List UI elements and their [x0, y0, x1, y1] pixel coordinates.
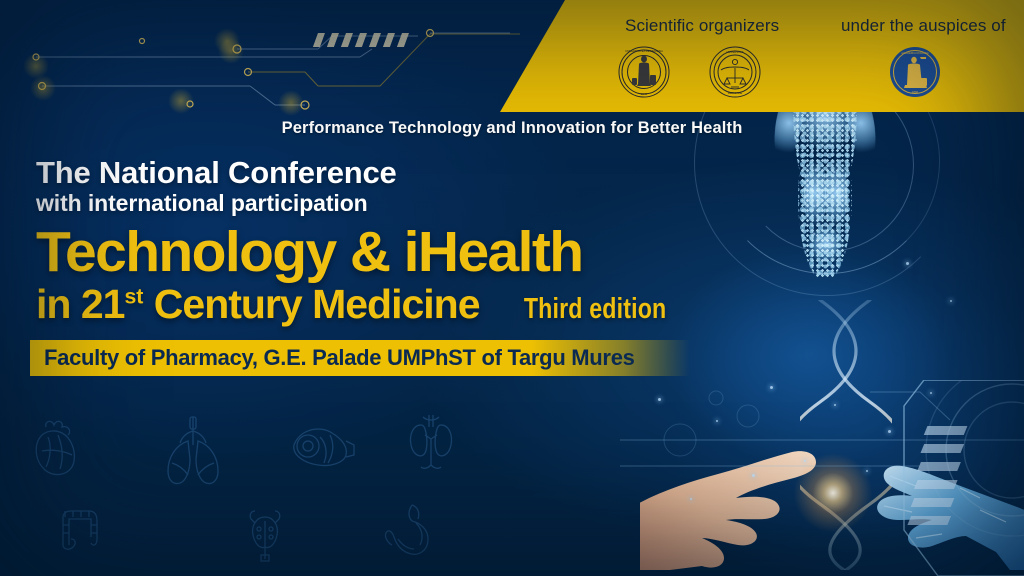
- tagline-text: Performance Technology and Innovation fo…: [282, 119, 743, 138]
- svg-text:1945: 1945: [641, 92, 647, 96]
- title-line-2: with international participation: [36, 190, 736, 216]
- kidneys-icon: [405, 413, 457, 475]
- conference-banner: Scientific organizers under the auspices…: [0, 0, 1024, 576]
- faculty-bar: Faculty of Pharmacy, G.E. Palade UMPhST …: [30, 340, 690, 376]
- svg-text:UNIVERSITATEA DE MEDICINA: UNIVERSITATEA DE MEDICINA: [625, 49, 663, 53]
- circuit-decoration: [0, 0, 580, 120]
- heart-icon: [28, 417, 84, 481]
- faculty-name: Faculty of Pharmacy, G.E. Palade UMPhST …: [44, 345, 635, 371]
- subtitle-ordinal: st: [124, 284, 143, 308]
- svg-text:UNIVERSITAS: UNIVERSITAS: [726, 50, 743, 54]
- colon-icon: [55, 505, 103, 553]
- stomach-icon: [382, 503, 434, 559]
- svg-text:ACADEMIA ROMANA: ACADEMIA ROMANA: [901, 51, 929, 55]
- svg-text:1866: 1866: [912, 90, 919, 94]
- lungs-icon: [162, 415, 224, 489]
- scientific-organizers-label: Scientific organizers: [625, 16, 779, 36]
- university-of-medicine-seal: UNIVERSITATEA DE MEDICINA 1945: [617, 45, 671, 99]
- organ-icon-watermarks: [0, 395, 640, 576]
- subtitle-suffix: Century Medicine: [143, 281, 479, 327]
- subtitle-prefix: in 21: [36, 281, 124, 327]
- universitas-seal: UNIVERSITAS MEDICINAE: [708, 45, 762, 99]
- under-auspices-label: under the auspices of: [841, 16, 1006, 36]
- thyroid-icon: [245, 507, 285, 563]
- romanian-academy-seal: ACADEMIA ROMANA 1866: [888, 45, 942, 99]
- title-line-1: The National Conference: [36, 156, 736, 189]
- tagline: Performance Technology and Innovation fo…: [0, 112, 1024, 145]
- edition-label: Third edition: [523, 293, 666, 326]
- title-block: The National Conference with internation…: [36, 156, 736, 326]
- conference-subtitle: in 21st Century Medicine: [36, 283, 480, 326]
- svg-text:MEDICINAE: MEDICINAE: [728, 91, 743, 95]
- conference-main-title: Technology & iHealth: [36, 223, 736, 281]
- eye-icon: [290, 423, 356, 469]
